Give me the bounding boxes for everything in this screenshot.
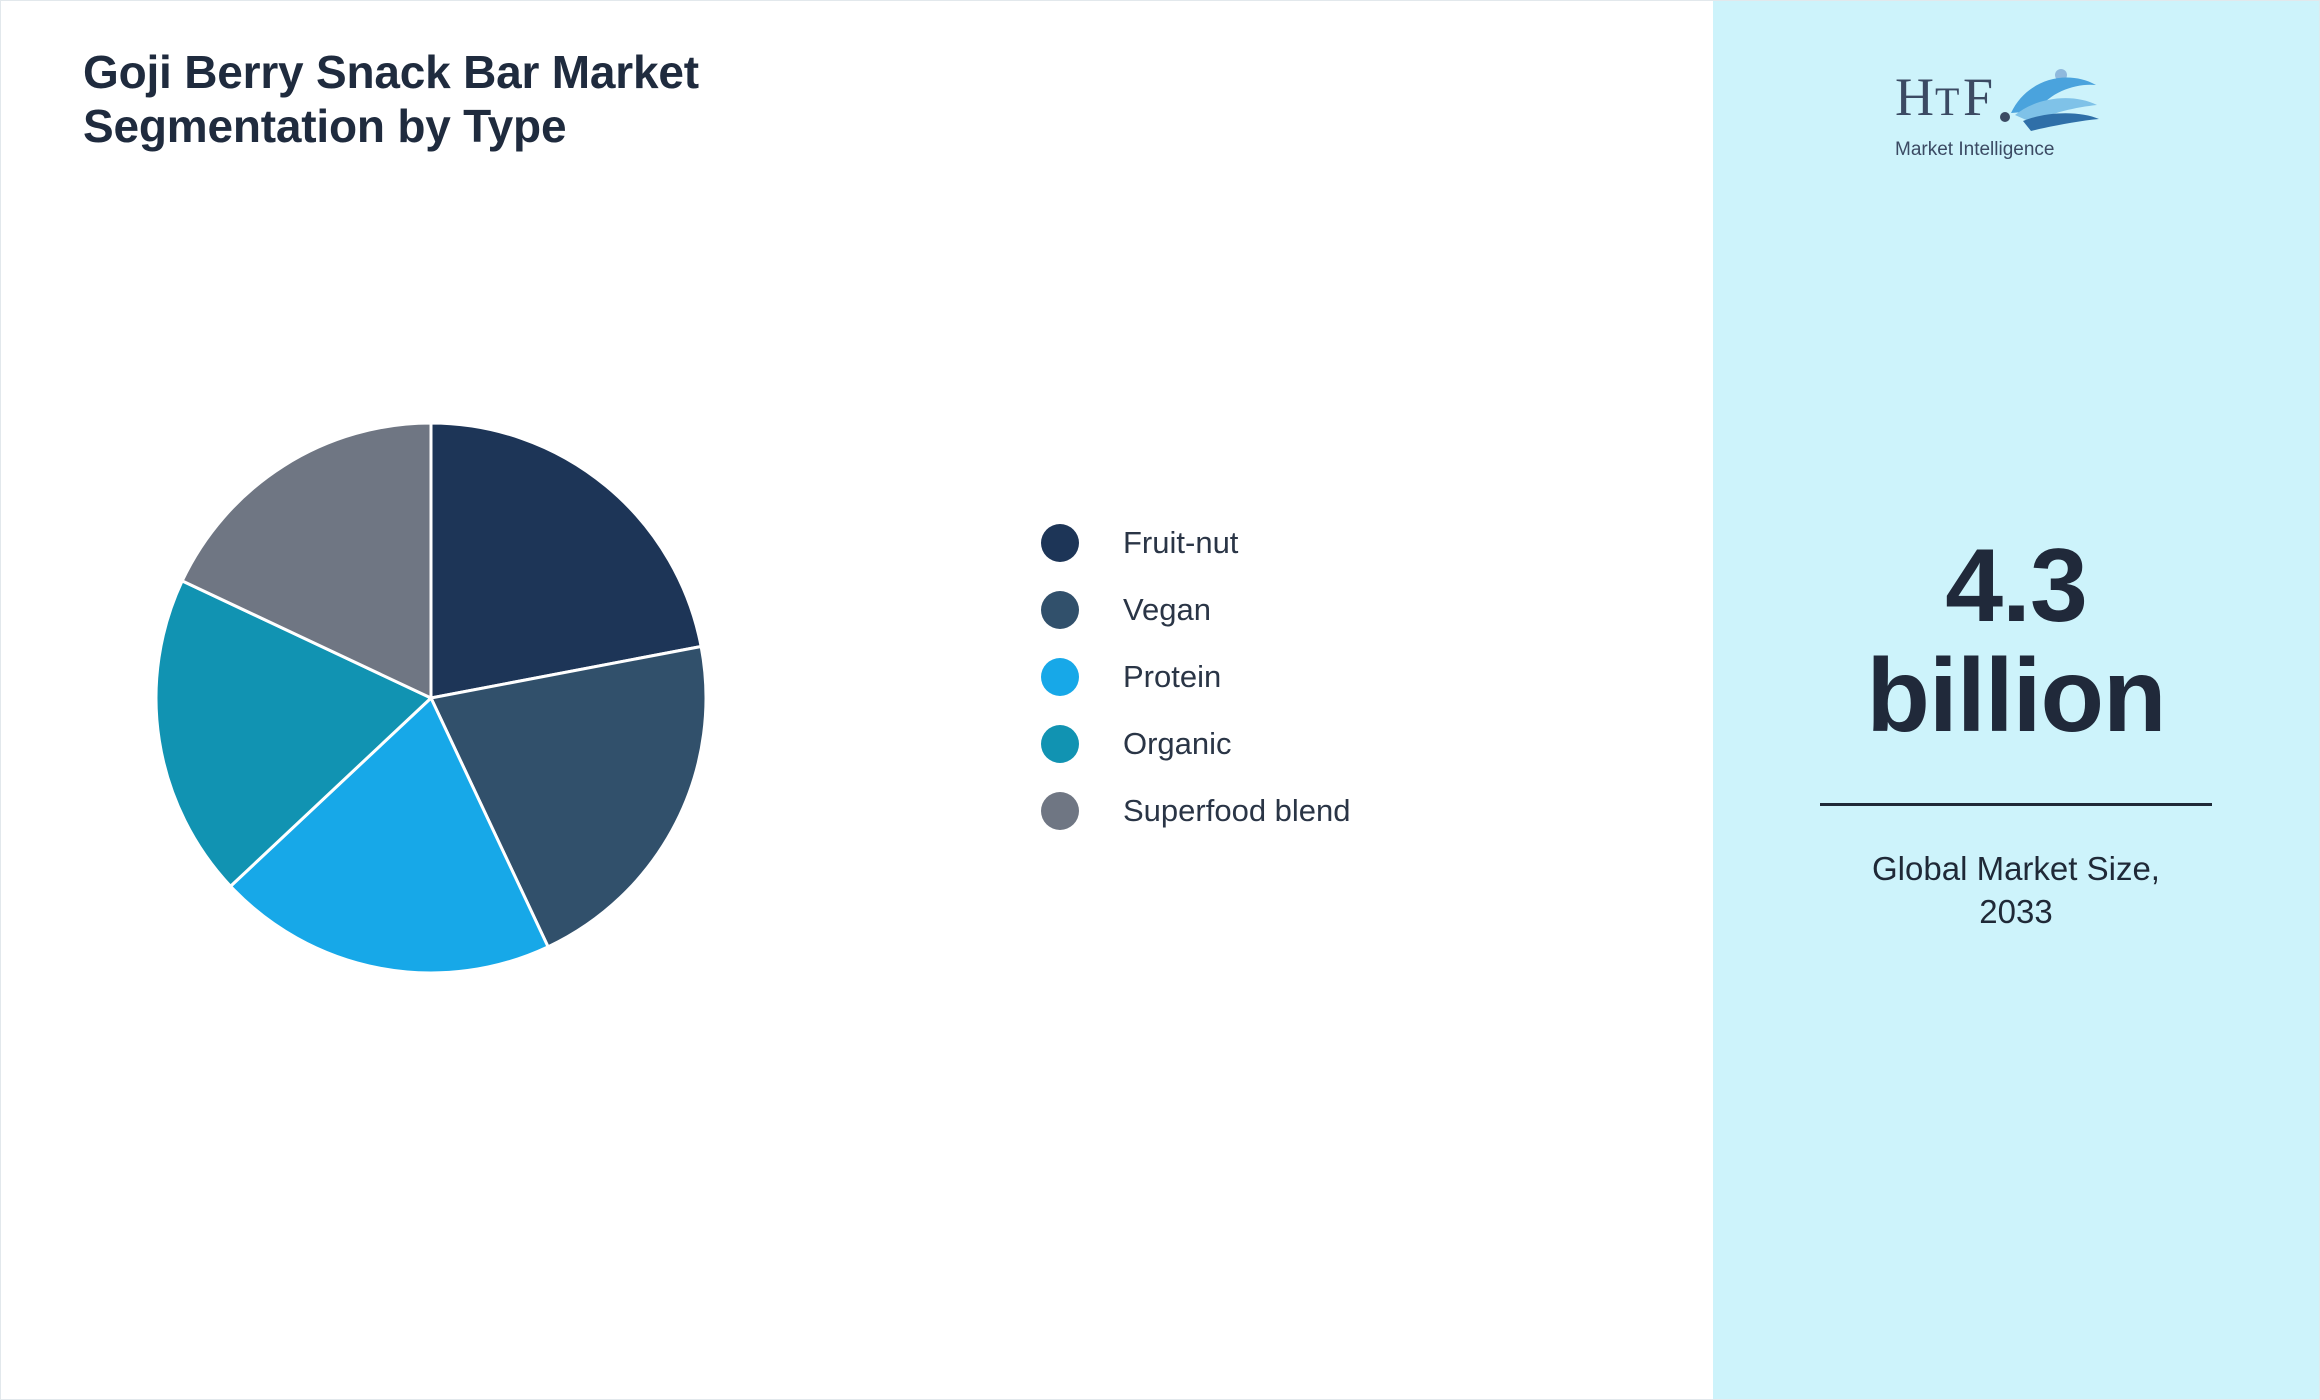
logo-tagline: Market Intelligence: [1895, 139, 2054, 160]
stat-caption-line-1: Global Market Size,: [1872, 850, 2160, 887]
chart-panel: Goji Berry Snack Bar Market Segmentation…: [1, 1, 1713, 1399]
stat-block: 4.3 billion Global Market Size, 2033: [1713, 531, 2319, 933]
page-title-line-2: Segmentation by Type: [83, 100, 566, 152]
legend-item-vegan[interactable]: Vegan: [1041, 590, 1351, 630]
legend-item-protein[interactable]: Protein: [1041, 657, 1351, 697]
legend-item-label: Protein: [1123, 659, 1221, 695]
legend-item-organic[interactable]: Organic: [1041, 724, 1351, 764]
stat-value-line-1: 4.3: [1945, 528, 2087, 644]
htf-logo-svg: H T F Market Intelligence: [1891, 59, 2141, 177]
logo-swoosh-icon: [2000, 69, 2099, 131]
legend-swatch-icon: [1041, 792, 1079, 830]
page-title-line-1: Goji Berry Snack Bar Market: [83, 46, 699, 98]
logo-letter-t: T: [1935, 79, 1959, 124]
infographic-root: Goji Berry Snack Bar Market Segmentation…: [0, 0, 2320, 1400]
legend-item-label: Vegan: [1123, 592, 1211, 628]
legend-swatch-icon: [1041, 658, 1079, 696]
pie-slice-group: [156, 423, 706, 973]
legend-item-superfood-blend[interactable]: Superfood blend: [1041, 791, 1351, 831]
stat-caption: Global Market Size, 2033: [1872, 848, 2160, 932]
pie-chart-svg: [154, 421, 708, 975]
page-title: Goji Berry Snack Bar Market Segmentation…: [83, 45, 983, 154]
legend-item-label: Superfood blend: [1123, 793, 1351, 829]
stat-caption-line-2: 2033: [1979, 893, 2052, 930]
legend-swatch-icon: [1041, 524, 1079, 562]
stat-value: 4.3 billion: [1866, 531, 2165, 751]
htf-logo: H T F Market Intelligence: [1891, 59, 2141, 177]
stat-divider: [1820, 803, 2212, 806]
legend-item-label: Fruit-nut: [1123, 525, 1238, 561]
stat-value-line-2: billion: [1866, 638, 2165, 754]
legend-item-label: Organic: [1123, 726, 1232, 762]
pie-chart: [154, 421, 708, 975]
legend-swatch-icon: [1041, 591, 1079, 629]
stat-panel: H T F Market Intelligence 4.3 billion: [1713, 1, 2319, 1399]
logo-letter-f: F: [1963, 67, 1993, 127]
chart-legend: Fruit-nut Vegan Protein Organic Superfoo…: [1041, 523, 1351, 831]
logo-letter-h: H: [1895, 67, 1934, 127]
legend-item-fruit-nut[interactable]: Fruit-nut: [1041, 523, 1351, 563]
legend-swatch-icon: [1041, 725, 1079, 763]
